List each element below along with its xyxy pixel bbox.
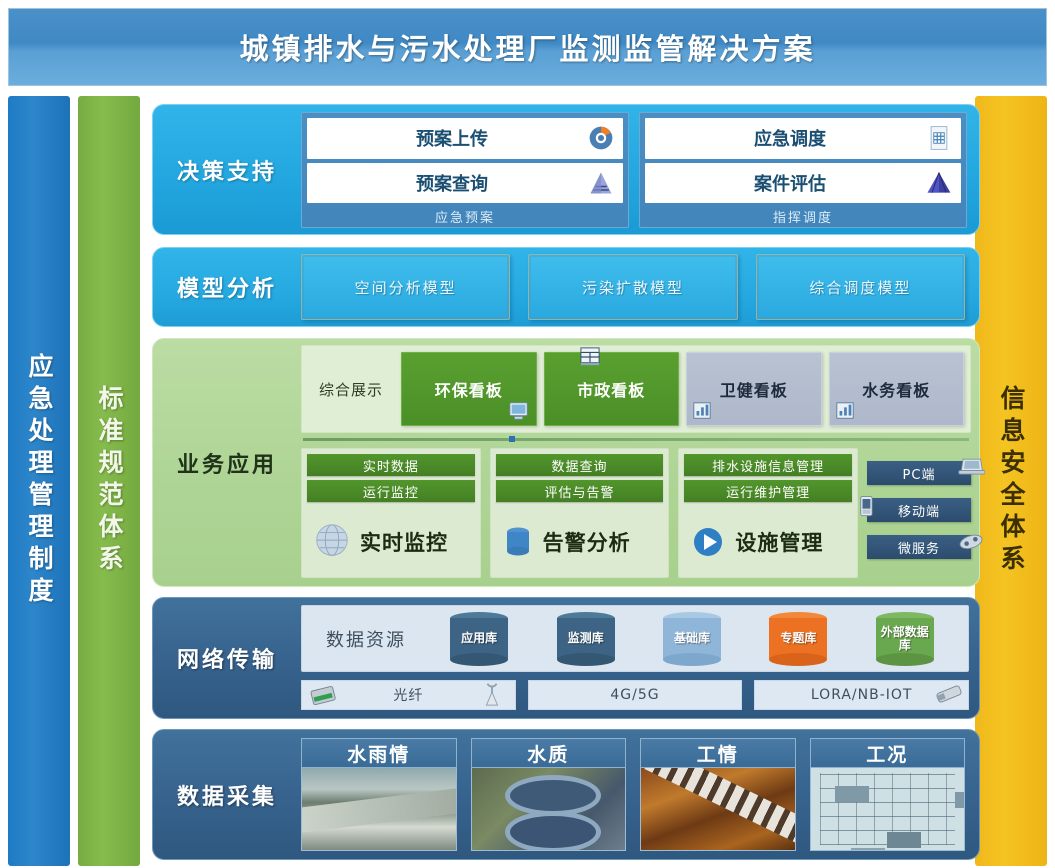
database-application[interactable]: 应用库 xyxy=(450,612,508,666)
database-label: 外部数据库 xyxy=(876,626,934,651)
pillar-information-security: 信息安全体系 xyxy=(975,96,1047,866)
data-resources-title: 数据资源 xyxy=(312,626,420,652)
business-chip[interactable]: 运行监控 xyxy=(307,480,475,502)
dashboard-card-label: 环保看板 xyxy=(435,377,503,401)
data-card-water-quality[interactable]: 水质 xyxy=(471,738,627,851)
dashboard-card-label: 市政看板 xyxy=(577,377,645,401)
layer-data-body: 水雨情 水质 工情 工况 xyxy=(301,730,979,859)
layer-decision-label: 决策支持 xyxy=(153,105,301,234)
dashboard-card-municipal[interactable]: 市政看板 xyxy=(544,352,680,426)
decision-item-plan-upload[interactable]: 预案上传 xyxy=(307,118,623,159)
window-icon xyxy=(579,347,601,367)
monitor-icon xyxy=(508,401,530,421)
model-box-spatial[interactable]: 空间分析模型 xyxy=(301,254,510,320)
decision-item-emergency-dispatch[interactable]: 应急调度 xyxy=(645,118,961,159)
data-card-photo xyxy=(301,768,457,851)
terminal-list: PC端 移动端 xyxy=(867,448,971,578)
dashboard-card-environment[interactable]: 环保看板 xyxy=(401,352,537,426)
dashboard-card-health[interactable]: 卫健看板 xyxy=(686,352,822,426)
decision-group-name: 指挥调度 xyxy=(645,207,961,227)
database-label: 专题库 xyxy=(780,632,816,645)
sensor-icon xyxy=(932,681,966,707)
layer-model-label: 模型分析 xyxy=(153,248,301,326)
chart-icon xyxy=(691,401,713,421)
decision-group-command-dispatch: 应急调度 案件评估 指挥调度 xyxy=(639,112,967,228)
pyramid-dark-icon xyxy=(925,169,953,197)
business-chip[interactable]: 评估与告警 xyxy=(496,480,664,502)
decision-item-case-evaluation[interactable]: 案件评估 xyxy=(645,163,961,204)
laptop-icon xyxy=(957,456,985,478)
data-card-photo xyxy=(640,768,796,851)
dashboard-title: 综合展示 xyxy=(308,352,394,426)
mobile-icon xyxy=(852,495,880,517)
layer-decision-body: 预案上传 预案查询 应急预案 xyxy=(301,105,979,234)
play-icon xyxy=(688,522,728,562)
page-title-banner: 城镇排水与污水处理厂监测监管解决方案 xyxy=(8,8,1047,86)
business-chip[interactable]: 实时数据 xyxy=(307,454,475,476)
layer-network-body: 数据资源 应用库 监测库 xyxy=(301,598,979,718)
decision-group-name: 应急预案 xyxy=(307,207,623,227)
business-feature-realtime-monitoring[interactable]: 实时监控 xyxy=(307,506,475,577)
globe-icon xyxy=(311,521,353,563)
pillar-security-label: 信息安全体系 xyxy=(993,385,1029,577)
terminal-label: 移动端 xyxy=(898,501,940,520)
dashboard-divider xyxy=(301,436,971,443)
terminal-pc[interactable]: PC端 xyxy=(867,461,971,485)
data-card-works[interactable]: 工情 xyxy=(640,738,796,851)
database-monitoring[interactable]: 监测库 xyxy=(557,612,615,666)
database-thematic[interactable]: 专题库 xyxy=(769,612,827,666)
layer-business-application: 业务应用 综合展示 环保看板 市政看板 xyxy=(152,338,980,587)
pyramid-icon xyxy=(587,169,615,197)
database-label: 监测库 xyxy=(568,632,604,645)
database-label: 应用库 xyxy=(461,632,497,645)
terminal-mobile[interactable]: 移动端 xyxy=(867,498,971,522)
data-card-label: 工况 xyxy=(810,738,966,768)
chart-icon xyxy=(834,401,856,421)
grid-table-icon xyxy=(925,124,953,152)
database-icon xyxy=(500,522,536,562)
business-column-alarm: 数据查询 评估与告警 告警分析 xyxy=(490,448,670,578)
decision-group-emergency-plan: 预案上传 预案查询 应急预案 xyxy=(301,112,629,228)
dashboard-card-label: 卫健看板 xyxy=(720,377,788,401)
business-chip[interactable]: 运行维护管理 xyxy=(684,480,852,502)
layer-network-transmission: 网络传输 数据资源 应用库 xyxy=(152,597,980,719)
channel-label: LORA/NB-IOT xyxy=(811,687,913,703)
model-box-pollution[interactable]: 污染扩散模型 xyxy=(528,254,737,320)
dashboard-card-water[interactable]: 水务看板 xyxy=(829,352,965,426)
layer-model-body: 空间分析模型 污染扩散模型 综合调度模型 xyxy=(301,248,979,326)
layer-decision-support: 决策支持 预案上传 预案查询 xyxy=(152,104,980,235)
channel-lora-nbiot[interactable]: LORA/NB-IOT xyxy=(754,680,969,710)
data-resources-panel: 数据资源 应用库 监测库 xyxy=(301,605,969,672)
channel-label: 4G/5G xyxy=(610,687,659,703)
channel-4g5g[interactable]: 4G/5G xyxy=(528,680,743,710)
business-column-facility: 排水设施信息管理 运行维护管理 设施管理 xyxy=(678,448,858,578)
pillar-emergency-management: 应急处理管理制度 xyxy=(8,96,70,866)
business-feature-label: 告警分析 xyxy=(543,527,631,557)
database-external[interactable]: 外部数据库 xyxy=(876,612,934,666)
fiber-icon xyxy=(306,683,340,709)
business-feature-label: 实时监控 xyxy=(360,527,448,557)
database-basic[interactable]: 基础库 xyxy=(663,612,721,666)
data-card-operating-status[interactable]: 工况 xyxy=(810,738,966,851)
lifebuoy-icon xyxy=(587,124,615,152)
data-card-label: 水质 xyxy=(471,738,627,768)
business-column-monitoring: 实时数据 运行监控 实时监控 xyxy=(301,448,481,578)
data-card-rainfall[interactable]: 水雨情 xyxy=(301,738,457,851)
layer-business-body: 综合展示 环保看板 市政看板 xyxy=(301,339,979,586)
channel-label: 光纤 xyxy=(393,685,423,705)
data-card-photo xyxy=(471,768,627,851)
business-feature-label: 设施管理 xyxy=(735,527,823,557)
layer-data-acquisition: 数据采集 水雨情 水质 工情 工况 xyxy=(152,729,980,860)
data-card-photo xyxy=(810,768,966,851)
dashboard-card-label: 水务看板 xyxy=(862,377,930,401)
business-chip[interactable]: 数据查询 xyxy=(496,454,664,476)
decision-item-label: 应急调度 xyxy=(655,125,951,151)
decision-item-label: 预案上传 xyxy=(317,125,613,151)
pillar-emergency-label: 应急处理管理制度 xyxy=(21,353,57,609)
business-chip[interactable]: 排水设施信息管理 xyxy=(684,454,852,476)
antenna-icon xyxy=(475,681,509,707)
business-feature-alarm-analysis[interactable]: 告警分析 xyxy=(496,506,664,577)
layer-business-label: 业务应用 xyxy=(153,339,301,586)
decision-item-plan-query[interactable]: 预案查询 xyxy=(307,163,623,204)
data-card-label: 水雨情 xyxy=(301,738,457,768)
pillar-standard-label: 标准规范体系 xyxy=(91,385,127,577)
terminal-microservice[interactable]: 微服务 xyxy=(867,535,971,559)
dashboard-strip: 综合展示 环保看板 市政看板 xyxy=(301,345,971,433)
terminal-label: PC端 xyxy=(903,464,936,483)
decision-item-label: 预案查询 xyxy=(317,170,613,196)
model-box-dispatch[interactable]: 综合调度模型 xyxy=(756,254,965,320)
device-icon xyxy=(957,530,985,552)
pillar-standard-system: 标准规范体系 xyxy=(78,96,140,866)
business-feature-facility-management[interactable]: 设施管理 xyxy=(684,506,852,577)
layer-model-analysis: 模型分析 空间分析模型 污染扩散模型 综合调度模型 xyxy=(152,247,980,327)
data-card-label: 工情 xyxy=(640,738,796,768)
layer-data-label: 数据采集 xyxy=(153,730,301,859)
database-label: 基础库 xyxy=(674,632,710,645)
decision-item-label: 案件评估 xyxy=(655,170,951,196)
divider-marker-icon xyxy=(509,436,515,442)
terminal-label: 微服务 xyxy=(898,538,940,557)
layer-network-label: 网络传输 xyxy=(153,598,301,718)
page-title: 城镇排水与污水处理厂监测监管解决方案 xyxy=(239,26,815,68)
